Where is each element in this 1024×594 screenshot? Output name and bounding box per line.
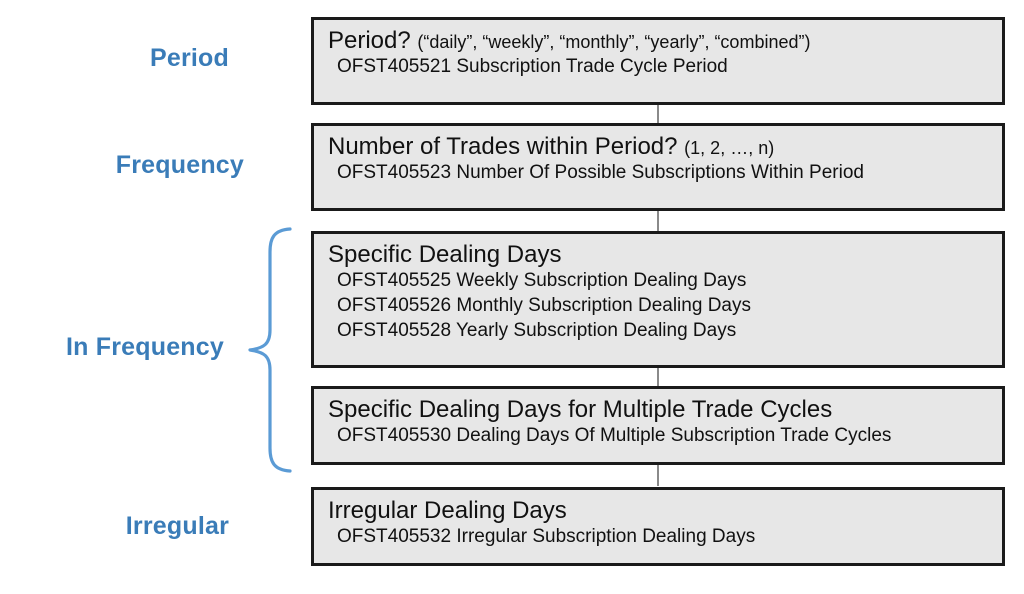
diagram-canvas: Period Frequency In Frequency Irregular … bbox=[0, 0, 1024, 594]
connector-frequency-to-specific bbox=[657, 210, 659, 231]
node-box-specific-dealing-days[interactable]: Specific Dealing Days OFST405525 Weekly … bbox=[311, 231, 1005, 368]
node-item: OFST405525 Weekly Subscription Dealing D… bbox=[328, 269, 992, 294]
node-title-qualifier: (1, 2, …, n) bbox=[684, 138, 774, 158]
node-item: OFST405528 Yearly Subscription Dealing D… bbox=[328, 319, 992, 344]
node-title: Irregular Dealing Days bbox=[328, 496, 992, 525]
node-title-text: Period? bbox=[328, 27, 411, 54]
connector-multiple-to-irregular bbox=[657, 464, 659, 486]
node-title-text: Specific Dealing Days bbox=[328, 241, 561, 268]
curly-brace-icon bbox=[244, 226, 296, 474]
node-box-irregular-dealing-days[interactable]: Irregular Dealing Days OFST405532 Irregu… bbox=[311, 487, 1005, 566]
node-title: Number of Trades within Period? (1, 2, …… bbox=[328, 132, 992, 161]
node-title-qualifier: (“daily”, “weekly”, “monthly”, “yearly”,… bbox=[417, 32, 810, 52]
node-title: Specific Dealing Days for Multiple Trade… bbox=[328, 395, 992, 424]
node-item: OFST405523 Number Of Possible Subscripti… bbox=[328, 161, 992, 186]
category-label-in-frequency: In Frequency bbox=[66, 334, 224, 362]
node-title-text: Specific Dealing Days for Multiple Trade… bbox=[328, 396, 832, 423]
node-title: Period? (“daily”, “weekly”, “monthly”, “… bbox=[328, 26, 992, 55]
node-title-text: Irregular Dealing Days bbox=[328, 497, 567, 524]
node-item: OFST405521 Subscription Trade Cycle Peri… bbox=[328, 55, 992, 80]
node-box-frequency[interactable]: Number of Trades within Period? (1, 2, …… bbox=[311, 123, 1005, 211]
node-title: Specific Dealing Days bbox=[328, 240, 992, 269]
category-label-irregular: Irregular bbox=[126, 513, 229, 541]
category-label-frequency: Frequency bbox=[116, 152, 244, 180]
node-item: OFST405532 Irregular Subscription Dealin… bbox=[328, 525, 992, 550]
node-title-text: Number of Trades within Period? bbox=[328, 133, 678, 160]
connector-specific-to-multiple bbox=[657, 367, 659, 387]
connector-period-to-frequency bbox=[657, 104, 659, 124]
node-item: OFST405530 Dealing Days Of Multiple Subs… bbox=[328, 424, 992, 449]
node-box-period[interactable]: Period? (“daily”, “weekly”, “monthly”, “… bbox=[311, 17, 1005, 105]
node-box-specific-dealing-days-multiple-trade-cycles[interactable]: Specific Dealing Days for Multiple Trade… bbox=[311, 386, 1005, 465]
category-label-period: Period bbox=[150, 45, 229, 73]
node-item: OFST405526 Monthly Subscription Dealing … bbox=[328, 294, 992, 319]
